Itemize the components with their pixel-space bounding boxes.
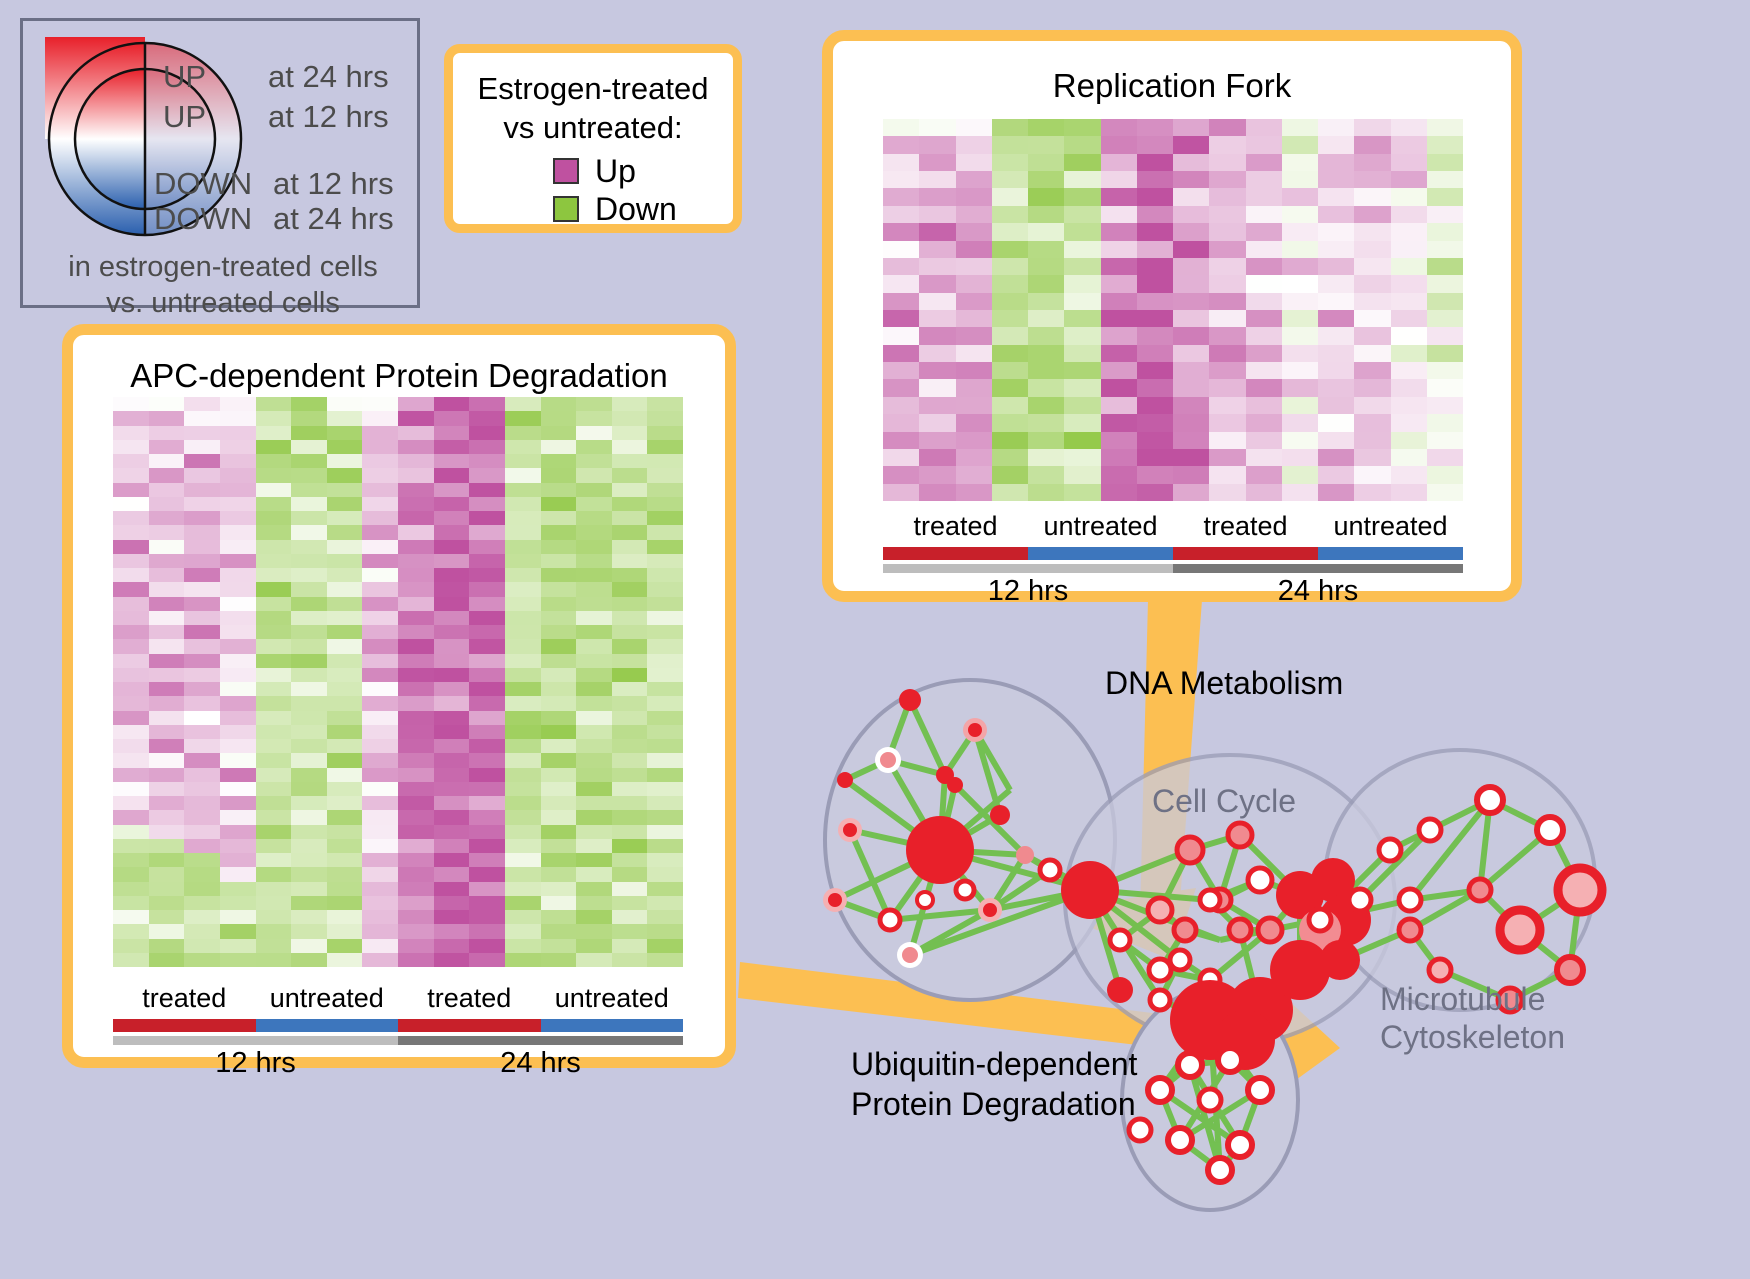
heatmap-cell (220, 753, 256, 767)
heatmap-cell (1427, 397, 1463, 414)
heatmap-cell (113, 696, 149, 710)
heatmap-cell (1101, 432, 1137, 449)
heatmap-cell (398, 639, 434, 653)
heatmap-cell (647, 397, 683, 411)
heatmap-cell (113, 554, 149, 568)
heatmap-cell (434, 611, 470, 625)
heatmap-cell (541, 924, 577, 938)
heatmap-cell (1354, 466, 1390, 483)
heatmap-cell (1282, 258, 1318, 275)
heatmap-cell (576, 739, 612, 753)
heatmap-cell (1318, 414, 1354, 431)
heatmap-cell (1101, 241, 1137, 258)
up-label: Up (595, 155, 636, 187)
treatment-bar-rf (883, 547, 1463, 560)
heatmap-cell (1391, 414, 1427, 431)
heatmap-cell (612, 867, 648, 881)
heatmap-cell (647, 725, 683, 739)
heatmap-cell (1246, 310, 1282, 327)
heatmap-cell (291, 753, 327, 767)
heatmap-cell (469, 497, 505, 511)
heatmap-cell (576, 939, 612, 953)
heatmap-cell (149, 924, 185, 938)
heatmap-cell (1137, 345, 1173, 362)
heatmap-cell (505, 924, 541, 938)
heatmap-cell (469, 910, 505, 924)
heatmap-cell (1101, 293, 1137, 310)
heatmap-cell (1064, 275, 1100, 292)
heatmap-cell (220, 768, 256, 782)
heatmap-cell (184, 796, 220, 810)
heatmap-cell (256, 924, 292, 938)
heatmap-cell (1209, 345, 1245, 362)
heatmap-cell (434, 540, 470, 554)
heatmap-cell (469, 882, 505, 896)
group-label: treated (1173, 511, 1318, 545)
heatmap-cell (647, 924, 683, 938)
heatmap-cell (1391, 119, 1427, 136)
updown-legend-title: Estrogen-treated vs untreated: (453, 69, 733, 147)
heatmap-cell (541, 654, 577, 668)
heatmap-cell (220, 597, 256, 611)
heatmap-cell (256, 582, 292, 596)
heatmap-cell (291, 924, 327, 938)
heatmap-cell (1318, 293, 1354, 310)
heatmap-cell (505, 725, 541, 739)
heatmap-cell (1137, 397, 1173, 414)
heatmap-cell (1427, 258, 1463, 275)
heatmap-cell (1064, 397, 1100, 414)
heatmap-cell (398, 810, 434, 824)
heatmap-cell (291, 882, 327, 896)
heatmap-cell (434, 753, 470, 767)
heatmap-cell (362, 426, 398, 440)
heatmap-cell (1173, 327, 1209, 344)
heatmap-cell (291, 483, 327, 497)
heatmap-cell (883, 206, 919, 223)
heatmap-cell (256, 711, 292, 725)
heatmap-cell (1391, 206, 1427, 223)
heatmap-cell (541, 796, 577, 810)
heatmap-cell (149, 582, 185, 596)
heatmap-cell (1427, 293, 1463, 310)
heatmap-cell (541, 440, 577, 454)
heatmap-cell (184, 440, 220, 454)
heatmap-cell (149, 554, 185, 568)
heatmap-cell (113, 953, 149, 967)
heatmap-cell (184, 953, 220, 967)
heatmap-cell (184, 582, 220, 596)
heatmap-cell (647, 696, 683, 710)
heatmap-cell (362, 782, 398, 796)
heatmap-cell (992, 327, 1028, 344)
heatmap-cell (398, 568, 434, 582)
heatmap-cell (576, 768, 612, 782)
heatmap-cell (184, 839, 220, 853)
heatmap-cell (956, 206, 992, 223)
time-label: 12 hrs (883, 575, 1173, 609)
heatmap-cell (1064, 414, 1100, 431)
heatmap-cell (327, 768, 363, 782)
time-labels-apc: 12 hrs 24 hrs (113, 1047, 683, 1081)
heatmap-cell (883, 241, 919, 258)
heatmap-cell (956, 414, 992, 431)
heatmap-cell (149, 953, 185, 967)
heatmap-cell (576, 411, 612, 425)
heatmap-cell (398, 668, 434, 682)
heatmap-cell (612, 725, 648, 739)
heatmap-cell (541, 882, 577, 896)
heatmap-cell (883, 154, 919, 171)
heatmap-cell (1427, 188, 1463, 205)
heatmap-cell (1137, 432, 1173, 449)
heatmap-cell (113, 540, 149, 554)
heatmap-cell (612, 454, 648, 468)
heatmap-cell (113, 682, 149, 696)
heatmap-cell (184, 540, 220, 554)
heatmap-cell (1101, 327, 1137, 344)
heatmap-cell (505, 511, 541, 525)
heatmap-cell (291, 568, 327, 582)
heatmap-cell (1028, 345, 1064, 362)
heatmap-cell (113, 739, 149, 753)
heatmap-cell (220, 924, 256, 938)
heatmap-cell (113, 867, 149, 881)
heatmap-cell (149, 782, 185, 796)
heatmap-cell (883, 466, 919, 483)
heatmap-cell (919, 414, 955, 431)
heatmap-cell (220, 810, 256, 824)
heatmap-cell (469, 825, 505, 839)
heatmap-cell (647, 839, 683, 853)
heatmap-cell (1209, 119, 1245, 136)
heatmap-cell (956, 119, 992, 136)
heatmap-cell (469, 796, 505, 810)
heatmap-cell (469, 853, 505, 867)
cluster-label-ubiquitin-degradation: Ubiquitin-dependent Protein Degradation (851, 1044, 1137, 1124)
heatmap-cell (398, 839, 434, 853)
heatmap-cell (956, 188, 992, 205)
heatmap-cell (398, 511, 434, 525)
heatmap-cell (541, 910, 577, 924)
heatmap-cell (1137, 379, 1173, 396)
heatmap-cell (1209, 466, 1245, 483)
heatmap-cell (647, 796, 683, 810)
panel-replication-fork: Replication Fork treated untreated treat… (822, 30, 1522, 602)
heatmap-cell (541, 568, 577, 582)
heatmap-cell (1064, 379, 1100, 396)
heatmap-cell (505, 454, 541, 468)
heatmap-cell (505, 468, 541, 482)
heatmap-cell (184, 711, 220, 725)
heatmap-cell (505, 568, 541, 582)
heatmap-cell (612, 625, 648, 639)
heatmap-cell (149, 668, 185, 682)
panel-apc-degradation: APC-dependent Protein Degradation treate… (62, 324, 736, 1068)
heatmap-cell (612, 511, 648, 525)
heatmap-cell (113, 825, 149, 839)
heatmap-cell (256, 825, 292, 839)
heatmap-cell (919, 466, 955, 483)
heatmap-cell (1246, 171, 1282, 188)
heatmap-cell (576, 611, 612, 625)
heatmap-cell (992, 258, 1028, 275)
heatmap-cell (184, 625, 220, 639)
heatmap-cell (541, 639, 577, 653)
heatmap-cell (505, 582, 541, 596)
heatmap-cell (256, 668, 292, 682)
heatmap-cell (1064, 432, 1100, 449)
heatmap-cell (398, 711, 434, 725)
heatmap-cell (647, 782, 683, 796)
heatmap-cell (1028, 258, 1064, 275)
heatmap-cell (362, 468, 398, 482)
heatmap-cell (541, 853, 577, 867)
heatmap-cell (149, 896, 185, 910)
heatmap-cell (1282, 449, 1318, 466)
heatmap-cell (541, 668, 577, 682)
heatmap-cell (647, 597, 683, 611)
heatmap-cell (919, 188, 955, 205)
heatmap-cell (434, 639, 470, 653)
heatmap-cell (184, 497, 220, 511)
heatmap-cell (505, 953, 541, 967)
heatmap-cell (1137, 414, 1173, 431)
heatmap-cell (1354, 397, 1390, 414)
heatmap-cell (220, 725, 256, 739)
heatmap-cell (327, 682, 363, 696)
heatmap-cell (256, 483, 292, 497)
heatmap-cell (1282, 414, 1318, 431)
heatmap-cell (362, 483, 398, 497)
heatmap-cell (1064, 171, 1100, 188)
heatmap-cell (149, 725, 185, 739)
heatmap-cell (505, 796, 541, 810)
heatmap-cell (992, 362, 1028, 379)
heatmap-cell (327, 397, 363, 411)
heatmap-cell (291, 426, 327, 440)
heatmap-cell (1391, 466, 1427, 483)
heatmap-cell (505, 910, 541, 924)
heatmap-cell (291, 810, 327, 824)
heatmap-cell (184, 511, 220, 525)
heatmap-cell (220, 882, 256, 896)
heatmap-cell (505, 440, 541, 454)
heatmap-cell (149, 639, 185, 653)
heatmap-cell (647, 511, 683, 525)
heatmap-cell (647, 739, 683, 753)
heatmap-cell (1427, 223, 1463, 240)
heatmap-cell (992, 414, 1028, 431)
heatmap-cell (362, 625, 398, 639)
down-swatch (553, 196, 579, 222)
heatmap-cell (256, 397, 292, 411)
heatmap-cell (434, 511, 470, 525)
heatmap-cell (469, 654, 505, 668)
heatmap-cell (362, 882, 398, 896)
heatmap-cell (434, 682, 470, 696)
heatmap-cell (1282, 241, 1318, 258)
heatmap-cell (1318, 206, 1354, 223)
heatmap-cell (1137, 449, 1173, 466)
time-labels-rf: 12 hrs 24 hrs (883, 575, 1463, 609)
heatmap-cell (1064, 484, 1100, 501)
up-swatch (553, 158, 579, 184)
heatmap-cell (1173, 188, 1209, 205)
heatmap-cell (992, 154, 1028, 171)
group-labels-apc: treated untreated treated untreated (113, 983, 683, 1017)
heatmap-cell (1246, 432, 1282, 449)
heatmap-cell (469, 896, 505, 910)
heatmap-cell (883, 258, 919, 275)
heatmap-cell (327, 597, 363, 611)
heatmap-cell (327, 483, 363, 497)
heatmap-cell (220, 910, 256, 924)
heatmap-cell (647, 540, 683, 554)
heatmap-cell (1427, 414, 1463, 431)
heatmap-cell (398, 497, 434, 511)
heatmap-cell (362, 511, 398, 525)
heatmap-cell (541, 511, 577, 525)
heatmap-cell (256, 839, 292, 853)
heatmap-cell (149, 682, 185, 696)
heatmap-cell (149, 525, 185, 539)
heatmap-cell (1246, 466, 1282, 483)
heatmap-cell (541, 896, 577, 910)
heatmap-cell (1391, 362, 1427, 379)
heatmap-cell (1427, 275, 1463, 292)
heatmap-cell (1427, 241, 1463, 258)
heatmap-cell (1246, 136, 1282, 153)
heatmap-cell (1064, 119, 1100, 136)
heatmap-cell (612, 426, 648, 440)
heatmap-cell (1209, 310, 1245, 327)
heatmap-cell (362, 896, 398, 910)
heatmap-cell (576, 882, 612, 896)
heatmap-cell (327, 853, 363, 867)
heatmap-cell (956, 362, 992, 379)
heatmap-cell (398, 768, 434, 782)
heatmap-cell (434, 397, 470, 411)
heatmap-cell (149, 882, 185, 896)
heatmap-cell (362, 839, 398, 853)
heatmap-cell (505, 782, 541, 796)
heatmap-cell (1209, 223, 1245, 240)
heatmap-cell (612, 839, 648, 853)
heatmap-cell (469, 454, 505, 468)
heatmap-cell (541, 696, 577, 710)
heatmap-cell (1391, 154, 1427, 171)
heatmap-cell (505, 867, 541, 881)
heatmap-cell (1028, 275, 1064, 292)
heatmap-cell (362, 568, 398, 582)
heatmap-cell (612, 483, 648, 497)
heatmap-cell (256, 611, 292, 625)
heatmap-cell (149, 825, 185, 839)
heatmap-cell (956, 223, 992, 240)
heatmap-cell (434, 440, 470, 454)
heatmap-cell (184, 668, 220, 682)
panel-title-apc-degradation: APC-dependent Protein Degradation (73, 357, 725, 395)
heatmap-cell (220, 582, 256, 596)
heatmap-cell (541, 483, 577, 497)
heatmap-cell (1318, 223, 1354, 240)
heatmap-cell (113, 440, 149, 454)
heatmap-cell (576, 625, 612, 639)
heatmap-cell (883, 432, 919, 449)
heatmap-cell (149, 711, 185, 725)
heatmap-cell (291, 839, 327, 853)
heatmap-cell (992, 345, 1028, 362)
heatmap-cell (469, 611, 505, 625)
heatmap-cell (1318, 397, 1354, 414)
heatmap-cell (956, 136, 992, 153)
group-label: treated (883, 511, 1028, 545)
heatmap-cell (220, 568, 256, 582)
legend-item-down: Down (553, 193, 677, 225)
heatmap-cell (1173, 258, 1209, 275)
heatmap-cell (919, 310, 955, 327)
heatmap-cell (398, 468, 434, 482)
heatmap-cell (992, 223, 1028, 240)
heatmap-cell (1137, 327, 1173, 344)
heatmap-cell (505, 611, 541, 625)
heatmap-cell (362, 739, 398, 753)
heatmap-cell (113, 668, 149, 682)
heatmap-cell (398, 540, 434, 554)
heatmap-cell (469, 711, 505, 725)
heatmap-cell (256, 725, 292, 739)
heatmap-cell (612, 882, 648, 896)
heatmap-cell (184, 768, 220, 782)
heatmap-cell (505, 668, 541, 682)
heatmap-cell (1282, 154, 1318, 171)
heatmap-cell (1209, 362, 1245, 379)
heatmap-cell (1354, 223, 1390, 240)
heatmap-cell (647, 554, 683, 568)
heatmap-cell (1137, 136, 1173, 153)
heatmap-cell (1101, 414, 1137, 431)
heatmap-cell (919, 484, 955, 501)
heatmap-cell (883, 397, 919, 414)
heatmap-cell (434, 454, 470, 468)
heatmap-cell (541, 497, 577, 511)
heatmap-cell (1028, 223, 1064, 240)
heatmap-cell (434, 825, 470, 839)
heatmap-cell (220, 525, 256, 539)
heatmap-cell (113, 725, 149, 739)
heatmap-cell (1028, 466, 1064, 483)
heatmap-cell (1282, 397, 1318, 414)
heatmap-cell (113, 625, 149, 639)
heatmap-cell (113, 753, 149, 767)
heatmap-cell (184, 924, 220, 938)
heatmap-cell (398, 554, 434, 568)
heatmap-cell (1354, 171, 1390, 188)
heatmap-cell (541, 939, 577, 953)
heatmap-cell (184, 568, 220, 582)
heatmap-cell (956, 379, 992, 396)
heatmap-cell (149, 497, 185, 511)
heatmap-cell (612, 497, 648, 511)
heatmap-cell (434, 910, 470, 924)
heatmap-cell (1318, 188, 1354, 205)
heatmap-cell (576, 497, 612, 511)
heatmap-cell (327, 497, 363, 511)
heatmap-cell (291, 782, 327, 796)
heatmap-cell (919, 379, 955, 396)
heatmap-cell (647, 497, 683, 511)
